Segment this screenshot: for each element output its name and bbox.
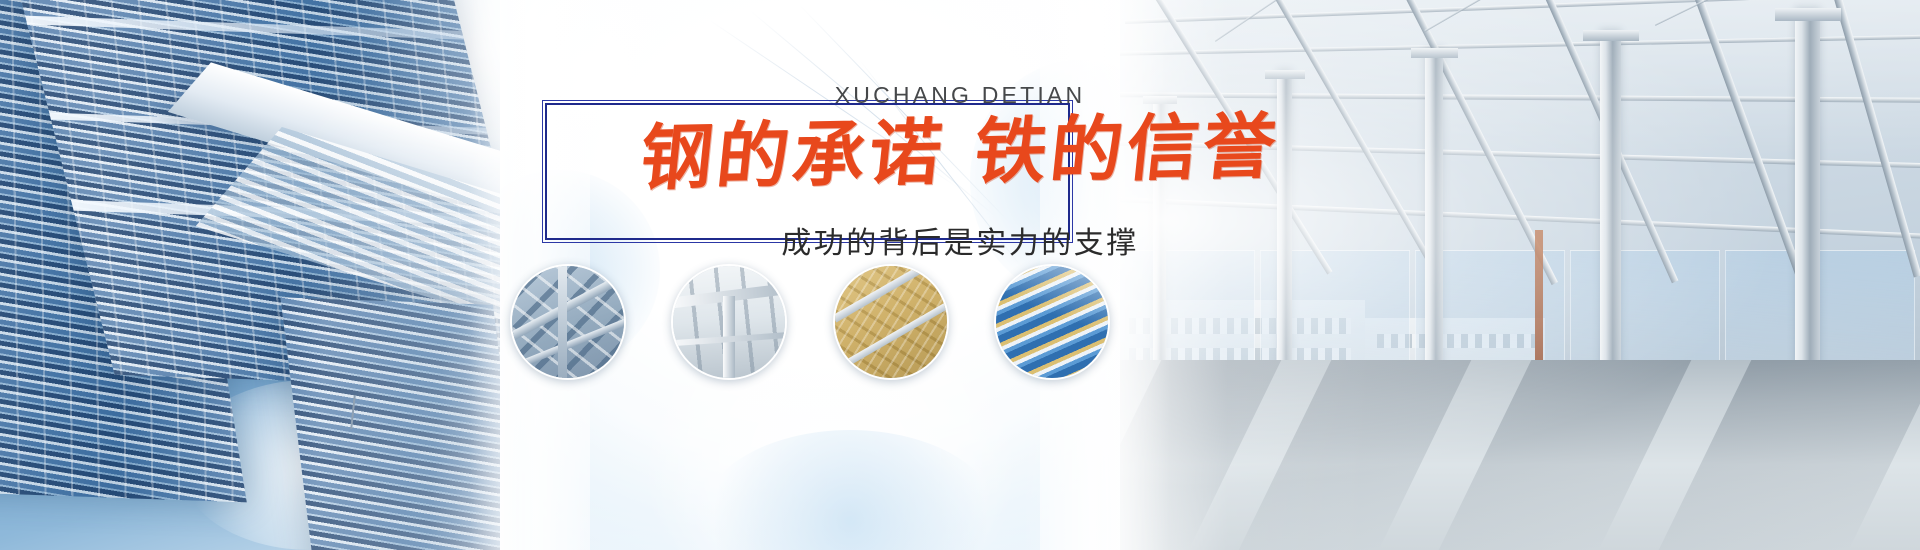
- hero-banner: XUCHANG DETIAN 钢的承诺 铁的信誉 成功的背后是实力的支撑: [0, 0, 1920, 550]
- thumbnail-rock-wool-sandwich-panel[interactable]: [833, 264, 949, 380]
- hero-content: XUCHANG DETIAN 钢的承诺 铁的信誉 成功的背后是实力的支撑: [0, 0, 1920, 550]
- headline-slogan: 钢的承诺 铁的信誉: [0, 98, 1920, 207]
- post: [558, 264, 567, 380]
- thumbnail-steel-portal-frame[interactable]: [671, 264, 787, 380]
- thumbnail-row: [510, 262, 1110, 382]
- thumbnail-steel-frame-structure[interactable]: [510, 264, 626, 380]
- gloss-highlight: [996, 266, 1108, 378]
- subheadline-text: 成功的背后是实力的支撑: [0, 218, 1920, 262]
- thumbnail-blue-corrugated-sandwich-panel[interactable]: [994, 264, 1110, 380]
